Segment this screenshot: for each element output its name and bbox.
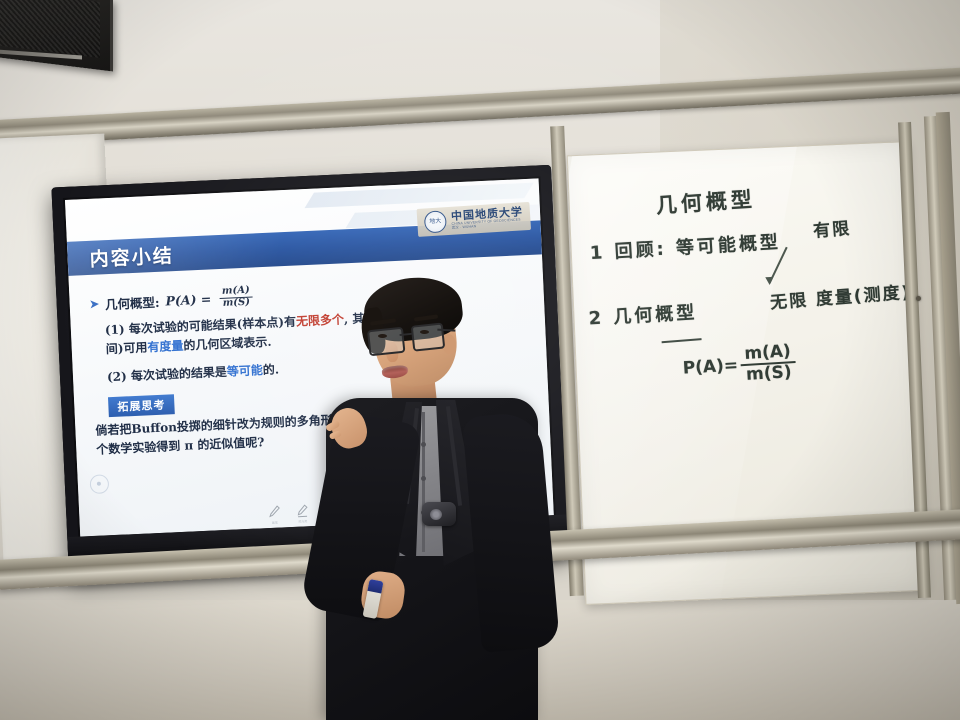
item-2-indent bbox=[93, 381, 107, 382]
marker-cap bbox=[367, 579, 383, 593]
question-line-2: 个数学实验得到 π 的近似值呢? bbox=[96, 435, 265, 457]
handwriting-fraction: m(A) m(S) bbox=[740, 342, 797, 385]
item-2-text-a: 每次试验的结果是 bbox=[131, 365, 228, 383]
fraction-denominator: m(S) bbox=[219, 297, 253, 309]
university-name-block: 中国地质大学 CHINA UNIVERSITY OF GEOSCIENCES 武… bbox=[451, 207, 524, 230]
bullet-label: 几何概型: bbox=[105, 291, 160, 312]
presenter-eye-right bbox=[420, 330, 429, 334]
item-1-line2-b: 的几何区域表示. bbox=[183, 334, 272, 352]
bullet-fraction: m(A) m(S) bbox=[219, 286, 254, 310]
handwriting-line-2: 2 几何概型 bbox=[588, 298, 698, 330]
pen-tool-icon[interactable]: 画笔 bbox=[268, 504, 282, 520]
university-seal-icon: 地大 bbox=[424, 210, 447, 233]
item-indent bbox=[91, 334, 105, 335]
presenter bbox=[300, 280, 560, 720]
bullet-formula-lhs: P(A) = bbox=[165, 291, 211, 308]
item-1-text-a: 每次试验的可能结果(样本点)有 bbox=[129, 315, 297, 337]
glasses-bridge bbox=[400, 333, 412, 336]
handwriting-title: 几何概型 bbox=[655, 183, 757, 220]
slide-title: 内容小结 bbox=[89, 241, 174, 272]
shirt-button bbox=[421, 476, 426, 481]
presenter-eye-left bbox=[378, 334, 387, 338]
presenter-torso bbox=[326, 398, 538, 720]
handwriting-formula: P(A)= m(A) m(S) bbox=[682, 342, 797, 389]
lens-right bbox=[411, 323, 446, 352]
item-2-index: (2) bbox=[107, 370, 127, 385]
handwriting-denominator: m(S) bbox=[742, 363, 797, 385]
handwriting-line-1: 1 回顾: 等可能概型 bbox=[589, 228, 781, 265]
item-indent-2 bbox=[92, 353, 106, 354]
item-2-highlight: 等可能 bbox=[227, 363, 264, 379]
item-2-text-b: 的. bbox=[263, 363, 280, 378]
handwriting-underline bbox=[662, 338, 702, 343]
lens-left bbox=[367, 327, 406, 357]
item-1-line2-a: 间)可用 bbox=[105, 340, 147, 356]
item-1-line2-highlight: 有度量 bbox=[147, 338, 184, 354]
pen-tool-label: 画笔 bbox=[272, 521, 278, 525]
frame-screw bbox=[916, 296, 921, 301]
handwriting-line-2-note: 无限 度量(测度) bbox=[769, 278, 912, 314]
arrow-bullet-icon: ➤ bbox=[89, 297, 99, 310]
classroom-photo: 内容小结 地大 中国地质大学 CHINA UNIVERSITY OF GEOSC… bbox=[0, 0, 960, 720]
extension-thinking-badge: 拓展思考 bbox=[108, 394, 175, 417]
shirt-button bbox=[421, 442, 426, 447]
shirt-placket bbox=[422, 412, 425, 552]
speaker-grill bbox=[0, 0, 100, 58]
item-1-index: (1) bbox=[105, 322, 125, 337]
handwriting-line-1-note: 有限 bbox=[812, 214, 852, 242]
microphone-capsule-icon bbox=[430, 509, 442, 520]
handwriting-formula-lhs: P(A)= bbox=[682, 355, 738, 378]
lapel-microphone bbox=[422, 502, 456, 526]
